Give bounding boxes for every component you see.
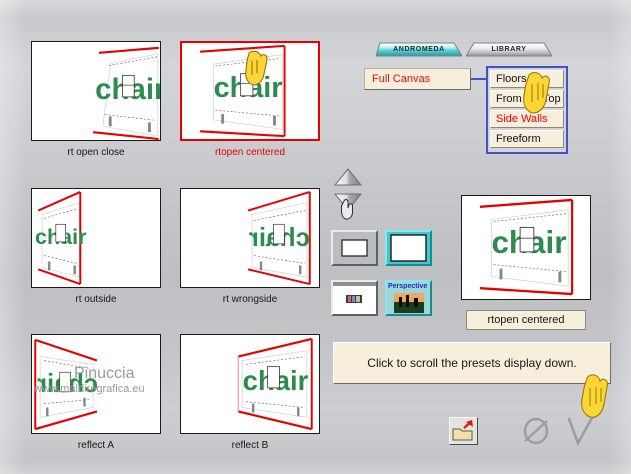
chair-artwork: chair xyxy=(182,43,318,139)
status-message: Click to scroll the presets display down… xyxy=(367,356,576,370)
slashed-circle-icon xyxy=(518,414,554,448)
image-strip-icon xyxy=(333,282,376,314)
cancel-button[interactable] xyxy=(518,414,554,448)
tab-library[interactable]: LIBRARY xyxy=(466,42,552,57)
chair-artwork: chair xyxy=(32,189,160,287)
triangle-up-icon xyxy=(333,167,363,187)
preset-thumbnail[interactable]: chair xyxy=(31,41,161,141)
menu-item-from-the-top[interactable]: From the Top xyxy=(490,90,564,108)
watermark-site: www.maldiregrafica.eu xyxy=(34,383,145,395)
apply-button[interactable] xyxy=(562,414,598,448)
preset-thumbnail[interactable]: chair xyxy=(180,188,320,288)
perspective-preset-label: Perspective xyxy=(388,283,427,290)
open-folder-button[interactable] xyxy=(449,417,478,445)
blank-canvas-icon xyxy=(387,232,430,264)
menu-item-freeform[interactable]: Freeform xyxy=(490,130,564,148)
preset-caption: rt wrongside xyxy=(180,294,320,305)
menu-item-floors[interactable]: Floors xyxy=(490,70,564,88)
preset-thumbnail[interactable]: chair xyxy=(31,188,161,288)
scroll-down-button[interactable] xyxy=(333,192,363,212)
menu-item-side-walls[interactable]: Side Walls xyxy=(490,110,564,128)
preset-item[interactable]: chair rt outside xyxy=(31,188,161,312)
preview-pane[interactable]: chair xyxy=(461,195,591,300)
mode-button-perspective-preset[interactable]: Perspective xyxy=(385,280,432,316)
preset-caption: reflect B xyxy=(180,440,320,451)
preview-label: rtopen centered xyxy=(466,310,586,330)
menu-list[interactable]: Floors From the Top Side Walls Freeform xyxy=(486,66,568,154)
preview-label-text: rtopen centered xyxy=(487,314,564,326)
folder-arrow-icon xyxy=(451,419,476,443)
triangle-down-icon xyxy=(333,192,363,212)
preset-item[interactable]: chair reflect B xyxy=(180,334,320,458)
scroll-up-button[interactable] xyxy=(333,167,363,187)
mode-button-blank-canvas[interactable] xyxy=(385,230,432,266)
tab-label: LIBRARY xyxy=(491,46,526,53)
preset-caption: rt outside xyxy=(31,294,161,305)
preset-caption: rt open close xyxy=(31,147,161,158)
andromeda-perspective-window: chair rt open close chair xyxy=(0,0,631,474)
mode-button-rectangle[interactable] xyxy=(331,230,378,266)
menu-item-label: Side Walls xyxy=(496,113,548,125)
canvas-mode-field[interactable]: Full Canvas xyxy=(364,68,471,90)
preset-item[interactable]: chair rt wrongside xyxy=(180,188,320,312)
menu-item-label: Floors xyxy=(496,73,527,85)
checkmark-icon xyxy=(562,414,598,448)
preset-thumbnail[interactable]: chair xyxy=(180,41,320,141)
preset-item[interactable]: chair rt open close xyxy=(31,41,161,165)
status-bar[interactable]: Click to scroll the presets display down… xyxy=(333,342,611,384)
preset-item[interactable]: chair rtopen centered xyxy=(180,41,320,165)
chair-artwork: chair xyxy=(181,189,319,287)
tab-label: ANDROMEDA xyxy=(393,46,445,53)
preset-caption: rtopen centered xyxy=(180,147,320,158)
canvas-mode-value: Full Canvas xyxy=(372,73,430,85)
tab-andromeda[interactable]: ANDROMEDA xyxy=(376,42,462,57)
preset-thumbnail[interactable]: chair Pinuccia www.maldiregrafica.eu xyxy=(31,334,161,434)
preset-caption: reflect A xyxy=(31,440,161,451)
preview-chair-artwork: chair xyxy=(462,196,590,299)
rectangle-outline-icon xyxy=(333,232,376,264)
chair-artwork: chair xyxy=(32,42,160,140)
preset-thumbnail[interactable]: chair xyxy=(180,334,320,434)
menu-item-label: Freeform xyxy=(496,133,541,145)
preset-item[interactable]: chair Pinuccia www.maldiregrafica.eu ref… xyxy=(31,334,161,458)
watermark-name: Pinuccia xyxy=(74,365,134,383)
chair-artwork: chair xyxy=(181,335,319,433)
menu-item-label: From the Top xyxy=(496,93,561,105)
mode-button-image-strip[interactable] xyxy=(331,280,378,316)
perspective-thumbnail-icon xyxy=(394,293,424,313)
